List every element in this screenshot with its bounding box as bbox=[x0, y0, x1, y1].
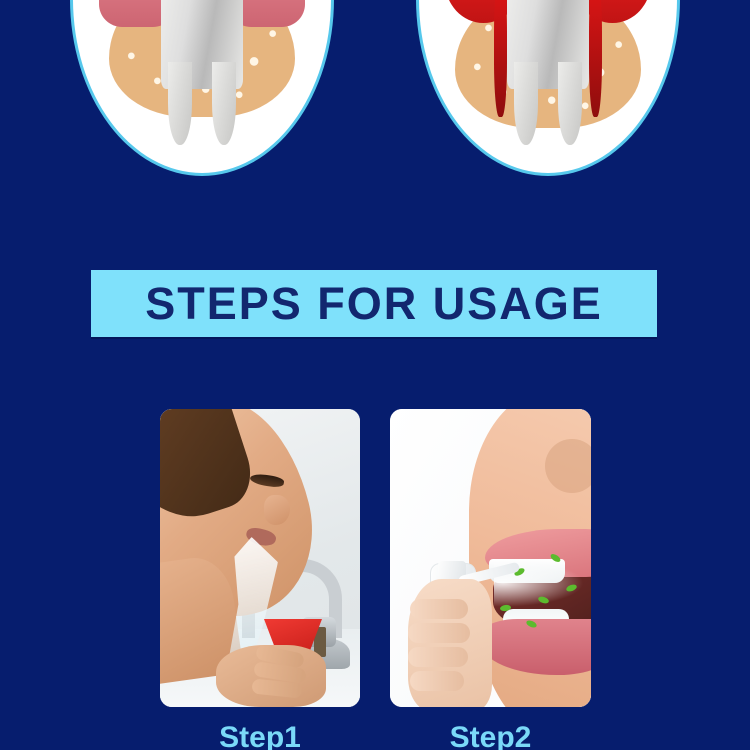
tooth-comparison-row bbox=[0, 0, 750, 182]
tooth-root-right-shape bbox=[212, 62, 235, 146]
tooth-gum-disease-illustration bbox=[419, 0, 677, 173]
step-2: Step2 bbox=[390, 409, 591, 750]
chin-shadow bbox=[545, 439, 591, 493]
woman-rinsing-mouth-at-sink-photo bbox=[160, 409, 360, 707]
finger bbox=[410, 599, 468, 619]
step-1: Step1 bbox=[160, 409, 360, 750]
healthy-tooth-circle bbox=[70, 0, 334, 176]
finger bbox=[408, 647, 468, 667]
product-detail-page: STEPS FOR USAGE bbox=[0, 0, 750, 750]
steps-banner: STEPS FOR USAGE bbox=[91, 270, 657, 337]
diseased-tooth-circle bbox=[416, 0, 680, 176]
finger bbox=[410, 671, 464, 691]
gum-recession-right-shape bbox=[589, 0, 602, 117]
tooth-root-left-shape bbox=[168, 62, 191, 146]
spray-bottle-applied-to-mouth-photo bbox=[390, 409, 591, 707]
step-2-label: Step2 bbox=[390, 723, 591, 750]
finger bbox=[408, 623, 470, 643]
tooth-root-right-shape bbox=[558, 62, 581, 146]
tooth-healthy-illustration bbox=[73, 0, 331, 173]
step-1-image-card[interactable] bbox=[160, 409, 360, 707]
tooth-root-left-shape bbox=[514, 62, 537, 146]
steps-section: Step1 bbox=[0, 409, 750, 750]
step-2-image-card[interactable] bbox=[390, 409, 591, 707]
banner-title: STEPS FOR USAGE bbox=[145, 281, 603, 326]
gum-recession-left-shape bbox=[494, 0, 507, 117]
step-1-label: Step1 bbox=[160, 723, 360, 750]
